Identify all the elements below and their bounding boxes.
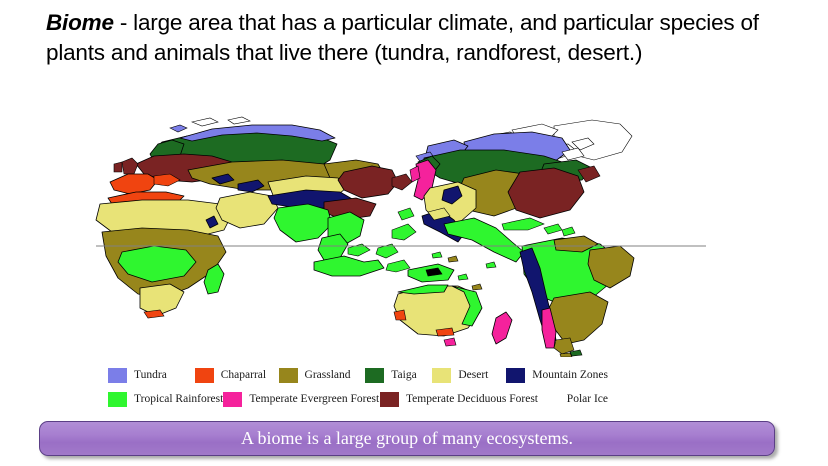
legend-swatch-polar-ice xyxy=(541,392,560,407)
summary-banner: A biome is a large group of many ecosyst… xyxy=(39,421,775,456)
legend-swatch-grassland xyxy=(279,368,298,383)
legend-swatch-temperate-evergreen-forest xyxy=(223,392,242,407)
legend-item-temperate-deciduous-forest: Temperate Deciduous Forest xyxy=(380,392,541,407)
legend-swatch-desert xyxy=(432,368,451,383)
biome-definition: Biome - large area that has a particular… xyxy=(46,8,766,68)
legend-label-temperate-deciduous-forest: Temperate Deciduous Forest xyxy=(406,393,538,405)
legend-swatch-tundra xyxy=(108,368,127,383)
legend-label-chaparral: Chaparral xyxy=(221,369,266,381)
legend-swatch-mountain-zones xyxy=(506,368,525,383)
legend-swatch-temperate-deciduous-forest xyxy=(380,392,399,407)
legend-item-temperate-evergreen-forest: Temperate Evergreen Forest xyxy=(223,392,380,407)
legend-item-desert: Desert xyxy=(432,368,506,383)
legend-item-taiga: Taiga xyxy=(365,368,432,383)
legend-label-grassland: Grassland xyxy=(305,369,351,381)
legend-swatch-taiga xyxy=(365,368,384,383)
legend-item-mountain-zones: Mountain Zones xyxy=(506,368,608,383)
legend-item-polar-ice: Polar Ice xyxy=(541,392,608,407)
legend-row: Tropical Rainforest Temperate Evergreen … xyxy=(108,387,608,411)
legend-item-tundra: Tundra xyxy=(108,368,195,383)
legend-item-chaparral: Chaparral xyxy=(195,368,279,383)
legend-label-polar-ice: Polar Ice xyxy=(567,393,608,405)
legend-swatch-chaparral xyxy=(195,368,214,383)
legend-label-mountain-zones: Mountain Zones xyxy=(532,369,608,381)
legend-label-tundra: Tundra xyxy=(134,369,167,381)
world-biomes-map: .o { stroke:#000; stroke-width:0.8; stro… xyxy=(92,112,712,357)
legend-row: Tundra Chaparral Grassland Taiga Desert … xyxy=(108,363,608,387)
legend-label-temperate-evergreen-forest: Temperate Evergreen Forest xyxy=(249,393,379,405)
legend-item-grassland: Grassland xyxy=(279,368,366,383)
definition-body: - large area that has a particular clima… xyxy=(46,10,759,65)
legend-item-tropical-rainforest: Tropical Rainforest xyxy=(108,392,223,407)
definition-term: Biome xyxy=(46,10,114,35)
world-biomes-map-svg: .o { stroke:#000; stroke-width:0.8; stro… xyxy=(92,112,712,357)
legend-label-taiga: Taiga xyxy=(391,369,416,381)
summary-banner-text: A biome is a large group of many ecosyst… xyxy=(241,428,573,449)
legend-label-tropical-rainforest: Tropical Rainforest xyxy=(134,393,223,405)
legend-label-desert: Desert xyxy=(458,369,488,381)
legend-swatch-tropical-rainforest xyxy=(108,392,127,407)
map-legend: Tundra Chaparral Grassland Taiga Desert … xyxy=(108,363,608,411)
